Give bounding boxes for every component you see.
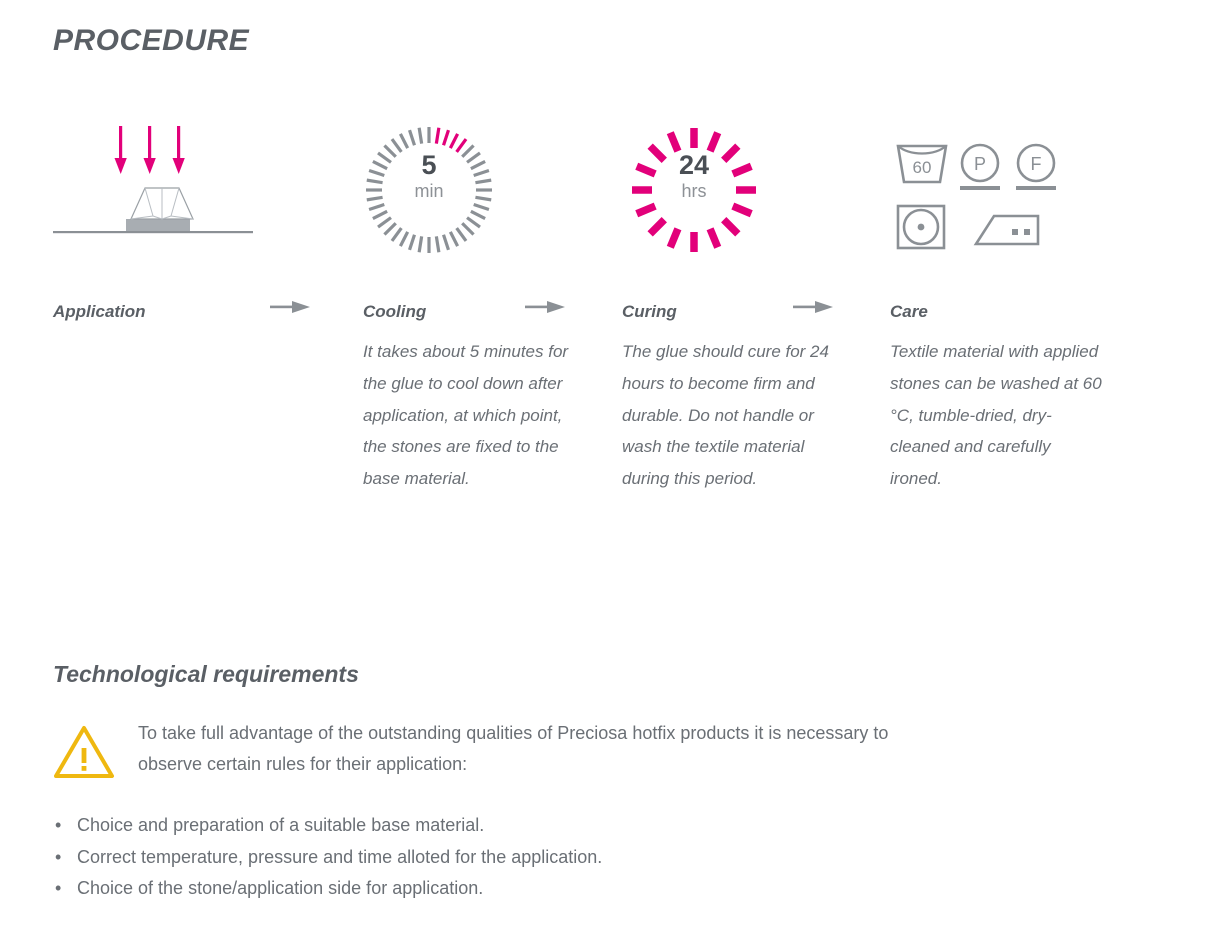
requirements-bullet-list: Choice and preparation of a suitable bas… [55,810,955,905]
requirement-note: To take full advantage of the outstandin… [53,718,953,780]
step-label-application: Application [53,302,253,322]
wash-temperature-label: 60 [913,158,932,177]
cooling-dial-value: 5 [421,152,436,179]
arrow-curing-to-care-icon [793,300,837,314]
curing-dial-value: 24 [679,152,709,179]
dryclean-f-label: F [1031,154,1042,174]
cooling-icon-wrap: 5 min [363,110,578,270]
procedure-step-care: 60 P F Care Textile material with applie… [890,110,1105,495]
procedure-section: Application 5 min Cooling It takes about… [0,110,1213,580]
step-text-cooling: It takes about 5 minutes for the glue to… [363,336,575,495]
dryclean-p-label: P [974,154,986,174]
arrow-application-to-cooling-icon [270,300,314,314]
section-title-technological-requirements: Technological requirements [53,661,359,688]
requirement-note-text: To take full advantage of the outstandin… [138,718,938,780]
arrow-cooling-to-curing-icon [525,300,569,314]
warning-triangle-icon [53,724,115,780]
hotfix-stone-pressed-icon [53,116,253,256]
list-item: Choice of the stone/application side for… [55,873,955,905]
procedure-step-application: Application [53,110,253,336]
curing-icon-wrap: 24 hrs [622,110,847,270]
curing-dial-unit: hrs [681,182,706,200]
list-item: Correct temperature, pressure and time a… [55,842,955,874]
cooling-dial-unit: min [414,182,443,200]
step-text-curing: The glue should cure for 24 hours to bec… [622,336,834,495]
step-label-care: Care [890,302,1105,322]
list-item: Choice and preparation of a suitable bas… [55,810,955,842]
cooling-dial-center: 5 min [363,110,495,242]
curing-dial-center: 24 hrs [628,110,760,242]
step-text-care: Textile material with applied stones can… [890,336,1102,495]
page-title: PROCEDURE [53,24,249,58]
care-icon-wrap: 60 P F [890,110,1105,270]
application-icon-wrap [53,110,253,270]
care-symbols-icon: 60 P F [890,134,1070,254]
